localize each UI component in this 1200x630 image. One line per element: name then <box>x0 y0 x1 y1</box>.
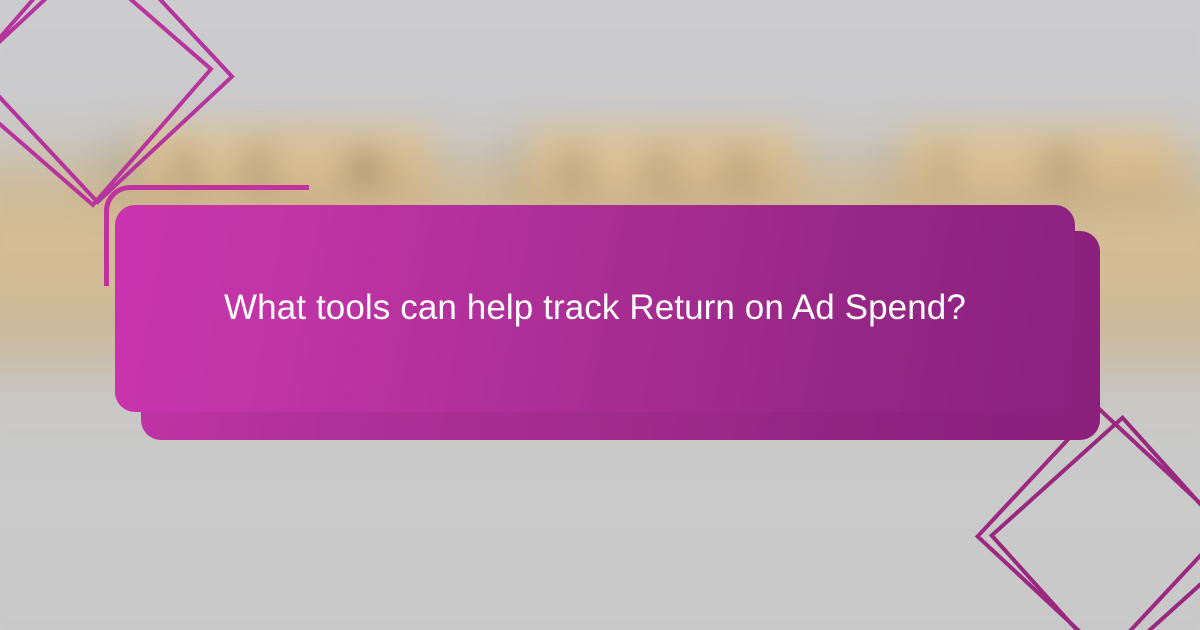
poster-canvas: A E R A L L I N What tools can help trac… <box>0 0 1200 630</box>
question-card: What tools can help track Return on Ad S… <box>115 205 1075 412</box>
question-title: What tools can help track Return on Ad S… <box>154 283 1036 334</box>
tile-letter: L <box>650 142 679 193</box>
tile-letter: I <box>935 142 952 193</box>
tile-letter: A <box>556 142 588 193</box>
tile-letter: N <box>1045 142 1077 193</box>
tile-letter: R <box>350 142 382 193</box>
tile-letter: L <box>730 142 759 193</box>
